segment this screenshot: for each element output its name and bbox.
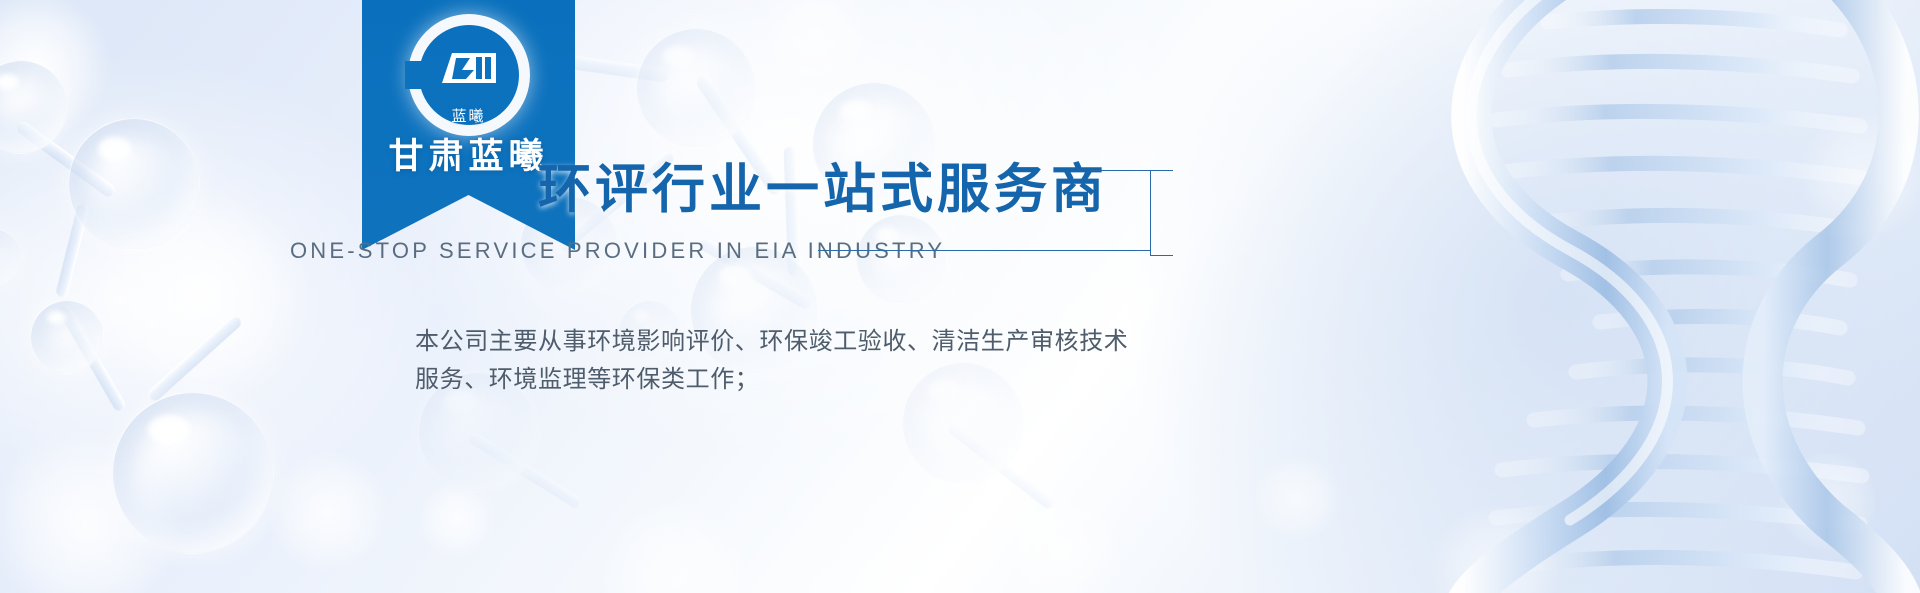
- molecule-bond: [146, 313, 244, 403]
- company-logo: 蓝曦: [408, 14, 530, 136]
- molecule-atom: [636, 28, 756, 148]
- molecule-atom: [0, 60, 68, 154]
- molecule-atom: [112, 392, 274, 554]
- bokeh-glow-decor: [268, 452, 388, 572]
- logo-subtext: 蓝曦: [451, 105, 485, 126]
- bokeh-glow-decor: [600, 500, 750, 593]
- molecule-atom: [30, 300, 104, 374]
- headline: 环评行业一站式服务商: [538, 147, 1108, 223]
- molecule-atom: [0, 228, 22, 288]
- connector-bracket-top: [1090, 170, 1152, 171]
- subtitle: ONE-STOP SERVICE PROVIDER IN EIA INDUSTR…: [290, 238, 945, 264]
- dna-helix-graphic: [1400, 0, 1920, 593]
- body-copy: 本公司主要从事环境影响评价、环保竣工验收、清洁生产审核技术 服务、环境监理等环保…: [415, 322, 1185, 398]
- banner-stage: 蓝曦 甘肃蓝曦 环评行业一站式服务商 ONE-STOP SERVICE PROV…: [0, 0, 1920, 593]
- body-copy-line: 服务、环境监理等环保类工作；: [415, 360, 1185, 398]
- molecule-atom: [68, 118, 200, 250]
- bokeh-glow-decor: [1002, 490, 1122, 593]
- body-copy-line: 本公司主要从事环境影响评价、环保竣工验收、清洁生产审核技术: [415, 322, 1185, 360]
- subtitle-row: ONE-STOP SERVICE PROVIDER IN EIA INDUSTR…: [290, 238, 1170, 264]
- subtitle-connector-line: [818, 250, 1150, 251]
- bokeh-glow-decor: [1255, 455, 1341, 541]
- blue-dawn-logo-icon: [438, 45, 500, 91]
- bokeh-glow-decor: [418, 480, 496, 558]
- bokeh-glow-decor: [760, 0, 870, 90]
